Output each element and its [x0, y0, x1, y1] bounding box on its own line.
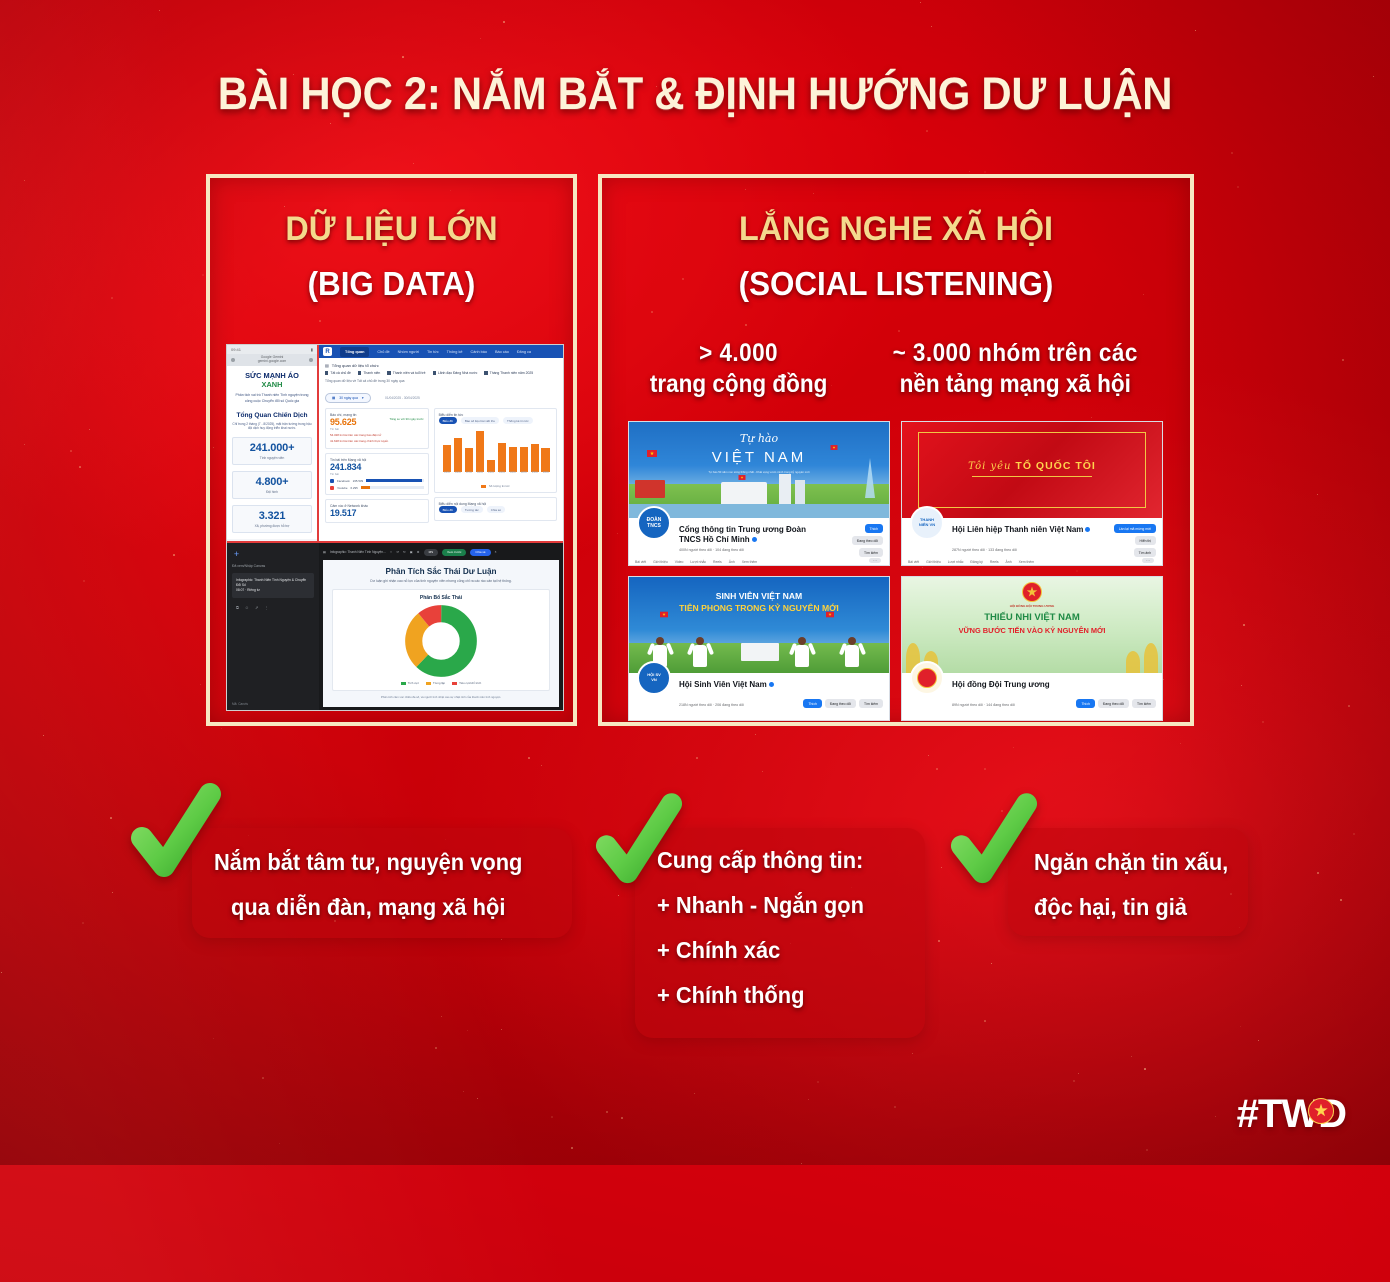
takeaway-line: + Chính thống [657, 973, 864, 1018]
phone-status-bar: 09:41 ▮ [227, 345, 317, 354]
tab-reels[interactable]: Reels [990, 560, 999, 564]
phone-stat-card: 241.000+ Tình nguyện viên [232, 437, 312, 465]
page-name: Hội đồng Đội Trung ương [952, 680, 1092, 690]
platform-value: 235.539 [353, 479, 363, 483]
tab-dang-ky[interactable]: Đăng ký [970, 560, 982, 564]
search-button[interactable]: Tìm kiếm [859, 699, 883, 708]
platform-bar-track [366, 479, 423, 483]
phone-mockup: 09:41 ▮ Google Gemini gemini.google.com … [227, 345, 319, 541]
page-action-buttons: Thích Đang theo dõi Tìm kiếm [852, 524, 883, 557]
sentiment-chart-panel: Phân Bổ Sắc Thái Tích cựcTrung lậpTiêu c… [332, 589, 550, 691]
youth-union-emblem-icon [1022, 582, 1042, 602]
calendar-icon: ▦ [332, 396, 335, 400]
page-action-buttons: Thích Đang theo dõi Tìm kiếm [803, 699, 883, 708]
page-cover-photo: SINH VIÊN VIỆT NAM TIÊN PHONG TRONG KỶ N… [629, 577, 889, 673]
page-name: Cổng thông tin Trung ương Đoàn TNCS Hồ C… [679, 525, 819, 545]
search-button[interactable]: Tìm kiếm [859, 548, 883, 557]
sentiment-legend: Tích cựcTrung lậpTiêu cực/chỉ trích [338, 681, 544, 685]
tab-luot-nhac[interactable]: Lượt nhắc [948, 560, 964, 564]
metric-note-1: 54.328 tin bài trên các trang báo điện t… [330, 433, 424, 437]
bar [520, 447, 529, 472]
chip-thanh-nien[interactable]: Thanh niên [358, 371, 380, 375]
like-button[interactable]: Thích [1076, 699, 1094, 708]
bar [487, 460, 496, 472]
platform-row-facebook: Facebook 235.539 [330, 479, 424, 483]
content-chart-card: Biểu diễn nội dung Mạng xã hội Biểu đồ T… [434, 497, 557, 521]
bar-xtick: 28/04 [541, 472, 550, 474]
bar-xtick: 19/04 [509, 472, 518, 474]
verified-badge-icon [769, 682, 774, 687]
chip-thang-thanh-nien[interactable]: Tháng Thanh niên năm 2025 [484, 371, 533, 375]
magic-icon[interactable]: ✧ [390, 550, 393, 554]
stat-community-pages: > 4.000 trang cộng đồng [650, 338, 827, 401]
tab-video[interactable]: Video [675, 560, 684, 564]
platform-bar-track [361, 486, 424, 490]
page-name: Hội Liên hiệp Thanh niên Việt Nam [952, 525, 1092, 535]
cover-script-text: Tự hào [740, 432, 778, 445]
panel-social-listening: LẮNG NGHE XÃ HỘI (SOCIAL LISTENING) > 4.… [598, 174, 1194, 726]
stat-value: ~ 3.000 nhóm trên các [893, 338, 1138, 369]
content-tab-chia-se[interactable]: Chia sẻ [487, 506, 505, 513]
nav-item-dang-ca[interactable]: Đăng ca [517, 350, 531, 354]
big-data-dashboard-screenshot: 09:41 ▮ Google Gemini gemini.google.com … [226, 344, 564, 711]
cover-title-line1: THIẾU NHI VIỆT NAM [984, 612, 1080, 623]
canva-editor: ▤ Infographic: Thanh Niên Tình Nguyện...… [319, 543, 563, 711]
bar [531, 444, 540, 472]
platform-name: Youtube [337, 486, 348, 490]
youth-union-emblem-icon [1308, 1098, 1334, 1124]
tab-gioi-thieu[interactable]: Giới thiệu [653, 560, 668, 564]
facebook-page-card[interactable]: Tự hào VIỆT NAM Tự hào 50 năm non sông t… [628, 421, 890, 566]
canva-document: Phân Tích Sắc Thái Dư Luận Dư luận ghi n… [323, 560, 559, 707]
legend-item: Tích cực [401, 681, 419, 685]
document-subtitle: Dư luận ghi nhận cao nỗ lực của tình ngu… [332, 579, 550, 584]
takeaway-line: Ngăn chặn tin xấu, [1034, 840, 1228, 885]
takeaway-line: qua diễn đàn, mạng xã hội [214, 885, 522, 930]
tab-bai-viet[interactable]: Bài viết [635, 560, 646, 564]
bar-xtick: 22/04 [520, 472, 529, 474]
tab-anh[interactable]: Ảnh [729, 560, 735, 564]
metric-card-network-khac: Cảm xúc ở Network khác 19.517 [325, 499, 429, 523]
tab-xem-them[interactable]: Xem thêm [742, 560, 757, 564]
bar [465, 448, 474, 472]
facebook-page-card[interactable]: Tôi yêu TỔ QUỐC TÔI THANHNIÊN VN Hội Liê… [901, 421, 1163, 566]
settings-icon[interactable]: ⚙ [417, 550, 420, 554]
bar-xtick: 07/04 [465, 472, 474, 474]
canva-file-name[interactable]: Infographic: Thanh Niên Tình Nguyện... [330, 550, 386, 554]
analytics-note: Tổng quan dữ liệu về Tất cả chủ đề trong… [319, 379, 563, 386]
bar [541, 448, 550, 472]
more-options-icon[interactable]: ··· [1142, 558, 1154, 563]
bar-xtick: 13/04 [487, 472, 496, 474]
platform-name: Facebook [337, 479, 350, 483]
phone-stat-label: Xã, phường được hỗ trợ [235, 524, 309, 528]
page-info-bar: THANHNIÊN VN Hội Liên hiệp Thanh niên Vi… [902, 518, 1162, 566]
takeaway-line: Cung cấp thông tin: [657, 838, 864, 883]
cover-title-text: VIỆT NAM [712, 449, 807, 466]
social-stats-row: > 4.000 trang cộng đồng ~ 3.000 nhóm trê… [602, 338, 1190, 401]
page-action-buttons: Thích Đang theo dõi Tìm kiếm [1076, 699, 1156, 708]
chart-icon: ▤ [325, 363, 329, 368]
page-tabs: Bài viết Giới thiệu Video Lượt nhắc Reel… [635, 560, 757, 564]
comment-icon[interactable]: ☺ [245, 605, 249, 610]
donut-svg [405, 605, 477, 677]
more-icon[interactable]: ⋮ [264, 605, 268, 610]
metric-unit: Tin bài [330, 472, 424, 476]
nav-item-tong-quan[interactable]: Tổng quan [340, 347, 369, 357]
legend-item: Trung lập [426, 681, 445, 685]
avatar[interactable] [910, 661, 944, 695]
legend-label: Số lượng tin tức [489, 484, 510, 488]
big-data-title-en: (BIG DATA) [219, 265, 564, 303]
phone-stat-value: 4.800+ [235, 476, 309, 488]
news-bar-chart: 01/0404/0407/0410/0413/0416/0419/0422/04… [439, 427, 552, 481]
find-photo-button[interactable]: Tìm ảnh [1134, 548, 1156, 557]
avatar[interactable]: HỘI SVVN [637, 661, 671, 695]
bar-chart-bars [441, 430, 550, 472]
following-button[interactable]: Đang theo dõi [1098, 699, 1129, 708]
page-info-bar: Hội đồng Đội Trung ương 89N người theo d… [902, 673, 1162, 721]
search-button[interactable]: Tìm kiếm [1132, 699, 1156, 708]
metric-note-2: 41.628 tin bài trên các trang chính thực… [330, 439, 424, 443]
tab-luot-nhac[interactable]: Lượt nhắc [690, 560, 706, 564]
browser-menu-icon[interactable] [309, 358, 313, 362]
bar [443, 445, 452, 472]
tab-bai-viet[interactable]: Bài viết [908, 560, 919, 564]
document-title: Phân Tích Sắc Thái Dư Luận [332, 567, 550, 576]
chip-lanh-dao[interactable]: Lãnh đạo Đảng Nhà nước [433, 371, 478, 375]
phone-headline-line2: XANH [262, 380, 283, 389]
like-button[interactable]: Thích [803, 699, 821, 708]
hide-button[interactable]: Hiển thị [1135, 536, 1157, 545]
metric-delta: Tăng so với 30 ngày trước [389, 417, 423, 421]
phone-subtitle: Phân tích vai trò Thanh niên Tình nguyện… [232, 393, 312, 403]
stat-groups: ~ 3.000 nhóm trên các nền tảng mạng xã h… [893, 338, 1138, 401]
analytics-filter-chips: Tất cả chủ đề Thanh niên Thanh niên và t… [319, 371, 563, 379]
phone-stat-card: 4.800+ Đội hình [232, 471, 312, 499]
undo-icon[interactable]: ↺ [396, 550, 399, 554]
add-design-icon[interactable]: + [232, 550, 241, 559]
phone-section-title: Tổng Quan Chiến Dịch [232, 412, 312, 419]
share-button[interactable]: Chia sẻ [470, 549, 490, 556]
page-tabs: Bài viết Giới thiệu Lượt nhắc Đăng ký Re… [908, 560, 1034, 564]
check-mark-icon [130, 780, 222, 893]
file-icon: ▤ [323, 550, 326, 554]
analytics-navbar: R Tổng quan Chủ đề Nhóm người Tin tức Th… [319, 345, 563, 358]
tab-gioi-thieu[interactable]: Giới thiệu [926, 560, 941, 564]
bar-xtick: 16/04 [498, 472, 507, 474]
stat-value: > 4.000 [650, 338, 827, 369]
browser-back-icon[interactable] [231, 358, 235, 362]
watermark: #TWĐ [1237, 1092, 1346, 1137]
design-meta: 08:07 · Riêng tư [236, 588, 260, 592]
sentiment-donut-chart [338, 605, 544, 677]
phone-headline: SỨC MẠNH ÁO XANH [232, 372, 312, 389]
bar [498, 443, 507, 472]
phone-clock: 09:41 [231, 347, 241, 352]
phone-stat-value: 3.321 [235, 510, 309, 522]
page-follower-meta: 89N người theo dõi · 144 đang theo dõi [952, 703, 1015, 707]
browser-chrome: Google Gemini gemini.google.com [227, 354, 317, 366]
page-info-bar: HỘI SVVN Hội Sinh Viên Việt Nam 218N ngư… [629, 673, 889, 721]
nav-item-nhom-nguoi[interactable]: Nhóm người [398, 350, 419, 354]
share-icon[interactable]: ⇗ [255, 605, 258, 610]
breadcrumb-label: Tổng quan dữ liệu tổ chức [332, 363, 379, 368]
canva-item-actions: ⧉ ☺ ⇗ ⋮ [232, 605, 314, 610]
avatar[interactable]: ĐOÀNTNCS [637, 506, 671, 540]
takeaway-line: Nắm bắt tâm tư, nguyện vọng [214, 840, 522, 885]
date-range-label: 30 ngày qua [339, 396, 358, 400]
big-data-title-vi: DỮ LIỆU LỚN [219, 210, 564, 249]
canva-design-item[interactable]: Infographic: Thanh Niên Tình Nguyện & Ch… [232, 573, 314, 598]
facebook-swatch-icon [330, 479, 334, 483]
document-footer: Phân tích cảm xúc nhiều đa số, và người … [332, 695, 550, 699]
nav-item-canh-bao[interactable]: Cảnh báo [470, 350, 486, 354]
chip-thanh-nien-tuoi-tre[interactable]: Thanh niên và tuổi trẻ [387, 371, 425, 375]
analytics-breadcrumb: ▤ Tổng quan dữ liệu tổ chức [319, 358, 563, 371]
social-pages-grid: Tự hào VIỆT NAM Tự hào 50 năm non sông t… [628, 421, 1163, 721]
nav-item-tin-tuc[interactable]: Tin tức [427, 350, 439, 354]
phone-stat-card: 3.321 Xã, phường được hỗ trợ [232, 505, 312, 533]
design-title: Infographic: Thanh Niên Tình Nguyện & [236, 578, 294, 582]
date-range-selector[interactable]: ▦ 30 ngày qua ▾ [325, 393, 371, 403]
content-tab-row: Biểu đồ Tương tác Chia sẻ [439, 506, 552, 513]
bar-xtick: 25/04 [531, 472, 540, 474]
bar-chart-legend: Số lượng tin tức [439, 484, 552, 488]
page-cover-photo: HỘI ĐỒNG ĐỘI TRUNG ƯƠNG THIẾU NHI VIỆT N… [902, 577, 1162, 673]
phone-stat-label: Tình nguyện viên [235, 456, 309, 460]
metric-unit: Tin bài [330, 427, 424, 431]
user-avatar[interactable]: MS [424, 549, 439, 556]
metric-value: 19.517 [330, 508, 424, 518]
page-info-bar: ĐOÀNTNCS Cổng thông tin Trung ương Đoàn … [629, 518, 889, 566]
analytics-logo: R [323, 347, 332, 356]
phone-battery-icon: ▮ [311, 347, 313, 352]
phone-stat-value: 241.000+ [235, 442, 309, 454]
phone-stat-label: Đội hình [235, 490, 309, 494]
takeaway-line: + Chính xác [657, 928, 864, 973]
page-name: Hội Sinh Viên Việt Nam [679, 680, 819, 690]
bar [476, 431, 485, 472]
takeaway-text-2: Cung cấp thông tin: + Nhanh - Ngắn gọn +… [657, 838, 864, 1017]
metric-card-bao-chi: Báo chí, mạng tin Tăng so với 30 ngày tr… [325, 408, 429, 449]
bar [509, 447, 518, 472]
save-icon[interactable]: ▣ [410, 550, 413, 554]
browser-url: gemini.google.com [258, 359, 286, 363]
cover-title-line2: VỮNG BƯỚC TIẾN VÀO KỶ NGUYÊN MỚI [959, 626, 1106, 635]
metric-value: 241.834 [330, 462, 424, 472]
stat-label: trang cộng đồng [650, 370, 827, 398]
close-icon[interactable]: × [495, 550, 497, 554]
phone-headline-line1: SỨC MẠNH ÁO [245, 371, 299, 380]
cover-title-line2: TIÊN PHONG TRONG KỶ NGUYÊN MỚI [679, 603, 839, 613]
canva-footer-label: Mã: Canvis [232, 702, 248, 706]
canva-sidebar: + Đã xem/Nhập Canvas Infographic: Thanh … [227, 543, 319, 711]
verified-badge-icon [1085, 527, 1090, 532]
chart-tab-row: Biểu đồ Báo số liệu bài viết thu Thống k… [439, 417, 552, 424]
cover-subtitle-text: Tự hào 50 năm non sông thống nhất - Khát… [684, 470, 834, 474]
page-follower-meta: 400N người theo dõi · 104 đang theo dõi [679, 548, 744, 552]
cover-title-line1: SINH VIÊN VIỆT NAM [716, 591, 802, 601]
takeaway-line: + Nhanh - Ngắn gọn [657, 883, 864, 928]
bar-xtick: 10/04 [476, 472, 485, 474]
tab-anh[interactable]: Ảnh [1006, 560, 1012, 564]
primary-action-button[interactable]: Lần lại mã mừng mới [1114, 524, 1156, 533]
platform-value: 6.295 [351, 486, 358, 490]
social-title-vi: LẮNG NGHE XÃ HỘI [617, 210, 1176, 249]
takeaway-text-3: Ngăn chặn tin xấu, độc hại, tin giả [1034, 840, 1228, 930]
like-button[interactable]: Thích [865, 524, 883, 533]
chip-tat-ca-chu-de[interactable]: Tất cả chủ đề [325, 371, 351, 375]
more-options-icon[interactable]: ··· [869, 558, 881, 563]
redo-icon[interactable]: ↻ [403, 550, 406, 554]
slide-title: BÀI HỌC 2: NẮM BẮT & ĐỊNH HƯỚNG DƯ LUẬN [49, 68, 1342, 120]
cover-caption: HỘI ĐỒNG ĐỘI TRUNG ƯƠNG [1010, 604, 1055, 608]
bar [454, 438, 463, 472]
avatar[interactable]: THANHNIÊN VN [910, 506, 944, 540]
duplicate-icon[interactable]: ⧉ [236, 605, 239, 610]
chevron-down-icon: ▾ [362, 396, 364, 400]
bar-xtick: 01/04 [443, 472, 452, 474]
donut-slice-2 [414, 614, 469, 669]
panel-big-data: DỮ LIỆU LỚN (BIG DATA) 09:41 ▮ Google Ge… [206, 174, 577, 726]
canva-sidebar-heading: Đã xem/Nhập Canvas [232, 564, 314, 568]
sentiment-chart-title: Phân Bổ Sắc Thái [338, 595, 544, 601]
content-tab-tuong-tac[interactable]: Tương tác [461, 506, 483, 513]
youtube-swatch-icon [330, 486, 334, 490]
chart-tab-bieu-do[interactable]: Biểu đồ [439, 417, 457, 424]
legend-item: Tiêu cực/chỉ trích [452, 681, 481, 685]
page-cover-photo: Tôi yêu TỔ QUỐC TÔI [902, 422, 1162, 518]
following-button[interactable]: Đang theo dõi [825, 699, 856, 708]
news-chart-card: Biểu diễn tin tức Biểu đồ Báo số liệu bà… [434, 408, 557, 493]
page-action-buttons: Lần lại mã mừng mới Hiển thị Tìm ảnh [1114, 524, 1156, 557]
chart-tab-bao-so-lieu[interactable]: Báo số liệu bài viết thu [461, 417, 499, 424]
nav-item-bao-cao[interactable]: Báo cáo [495, 350, 509, 354]
nav-item-chu-de[interactable]: Chủ đề [377, 350, 389, 354]
nav-item-thong-ke[interactable]: Thống kê [447, 350, 463, 354]
social-title-en: (SOCIAL LISTENING) [617, 265, 1176, 303]
page-follower-meta: 287N người theo dõi · 133 đang theo dõi [952, 548, 1017, 552]
check-mark-icon [950, 790, 1038, 899]
content-tab-bieu-do[interactable]: Biểu đồ [439, 506, 457, 513]
bar-xtick: 04/04 [454, 472, 463, 474]
page-cover-photo: Tự hào VIỆT NAM Tự hào 50 năm non sông t… [629, 422, 889, 518]
stat-label: nền tảng mạng xã hội [900, 370, 1131, 398]
page-follower-meta: 218N người theo dõi · 206 đang theo dõi [679, 703, 744, 707]
phone-section-sub: Chỉ trong 2 tháng (7 - 8/2025), mặt trận… [232, 422, 312, 431]
following-button[interactable]: Đang theo dõi [852, 536, 883, 545]
tab-xem-them[interactable]: Xem thêm [1019, 560, 1034, 564]
facebook-page-card[interactable]: HỘI ĐỒNG ĐỘI TRUNG ƯƠNG THIẾU NHI VIỆT N… [901, 576, 1163, 721]
takeaway-line: độc hại, tin giả [1034, 885, 1228, 930]
metric-card-mang-xa-hoi: Tin bài trên Mạng xã hội 241.834 Tin bài… [325, 453, 429, 495]
takeaway-text-1: Nắm bắt tâm tư, nguyện vọng qua diễn đàn… [214, 840, 522, 930]
preview-button[interactable]: Xem trước [442, 549, 466, 556]
chart-tab-thong-ke[interactable]: Thống kê tin tức [503, 417, 533, 424]
canva-toolbar: ▤ Infographic: Thanh Niên Tình Nguyện...… [323, 547, 559, 557]
platform-row-youtube: Youtube 6.295 [330, 486, 424, 490]
cover-title-text: Tôi yêu TỔ QUỐC TÔI [968, 460, 1096, 472]
tab-reels[interactable]: Reels [713, 560, 722, 564]
verified-badge-icon [752, 537, 757, 542]
analytics-dashboard: R Tổng quan Chủ đề Nhóm người Tin tức Th… [319, 345, 563, 541]
date-range-value: 01/04/2025 - 30/04/2025 [385, 396, 420, 400]
facebook-page-card[interactable]: SINH VIÊN VIỆT NAM TIÊN PHONG TRONG KỶ N… [628, 576, 890, 721]
bar-chart-xticks: 01/0404/0407/0410/0413/0416/0419/0422/04… [441, 472, 550, 474]
